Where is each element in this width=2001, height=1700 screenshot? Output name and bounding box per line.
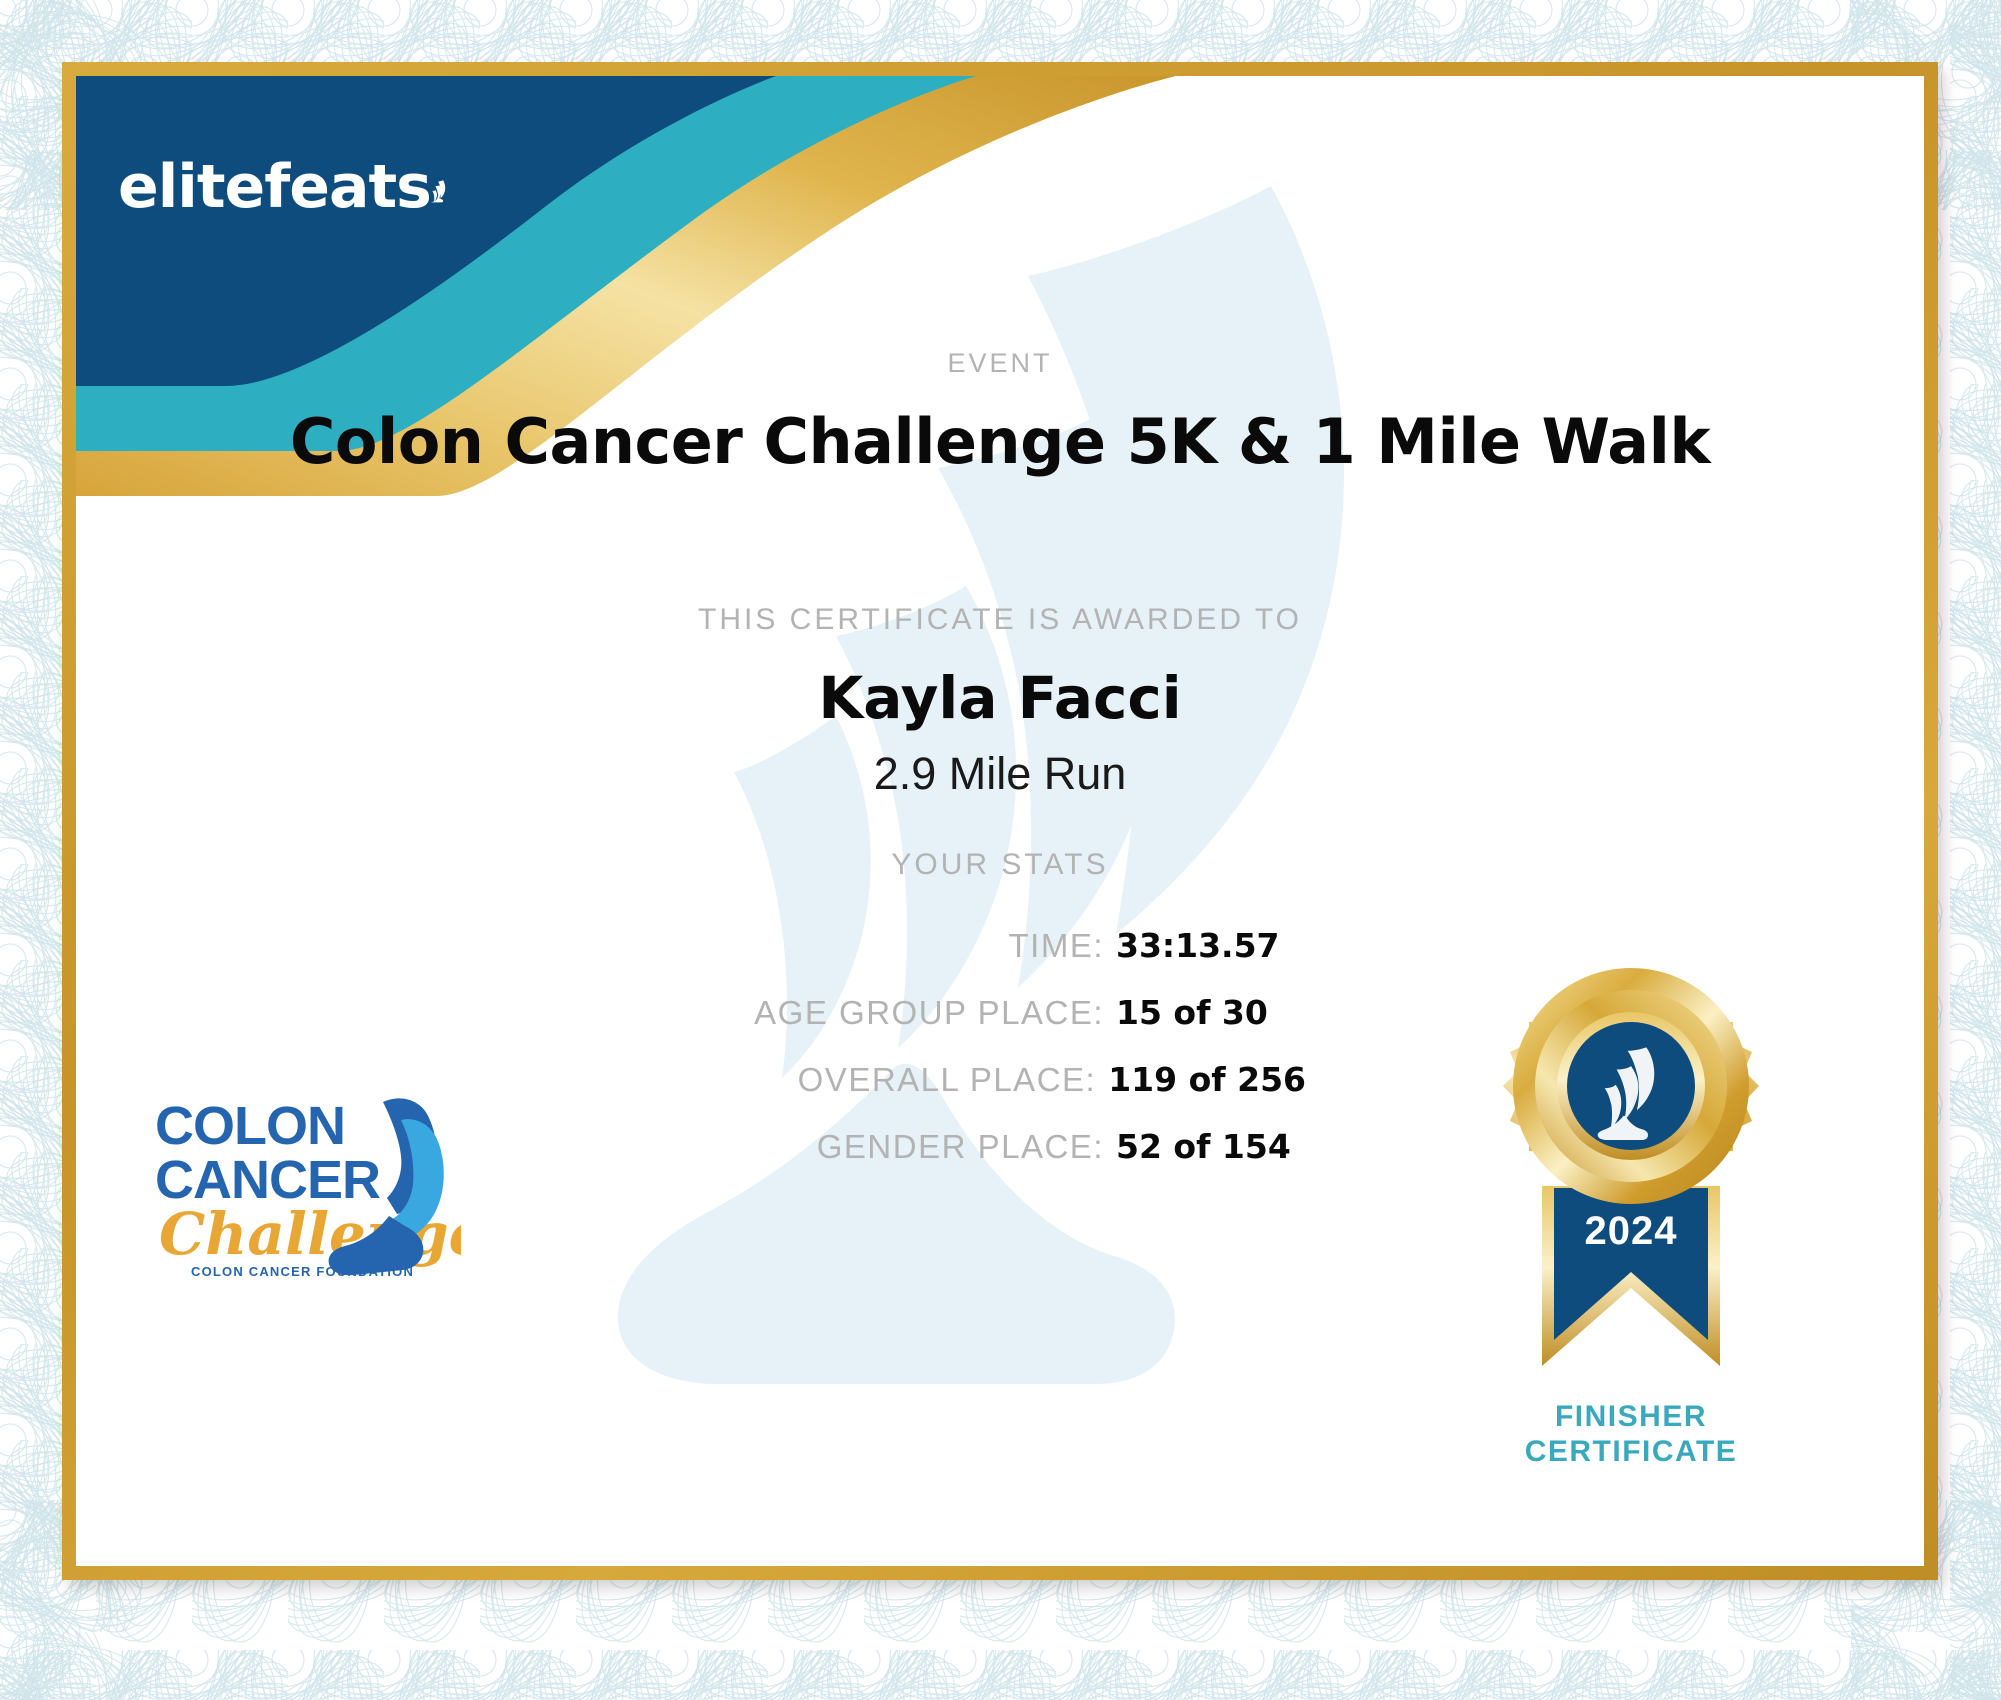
event-title: Colon Cancer Challenge 5K & 1 Mile Walk: [76, 405, 1924, 478]
stat-value: 15 of 30: [1116, 993, 1306, 1032]
your-stats-kicker-label: YOUR STATS: [76, 848, 1924, 882]
event-kicker-label: EVENT: [76, 348, 1924, 379]
stat-row-time: TIME: 33:13.57: [76, 926, 1306, 965]
stat-label: AGE GROUP PLACE:: [754, 994, 1104, 1032]
stat-value: 33:13.57: [1116, 926, 1306, 965]
stat-row-age-group-place: AGE GROUP PLACE: 15 of 30: [76, 993, 1306, 1032]
stat-value: 52 of 154: [1116, 1127, 1306, 1166]
medal-caption-line1: FINISHER: [1466, 1400, 1796, 1435]
stat-value: 119 of 256: [1108, 1060, 1306, 1099]
stat-label: OVERALL PLACE:: [798, 1061, 1097, 1099]
awarded-to-kicker-label: THIS CERTIFICATE IS AWARDED TO: [76, 603, 1924, 637]
medal-caption: FINISHER CERTIFICATE: [1466, 1400, 1796, 1469]
certificate-content: EVENT Colon Cancer Challenge 5K & 1 Mile…: [76, 76, 1924, 1566]
certificate-page: elitefeats EVENT Colon Cancer Chall: [0, 0, 2001, 1700]
certificate-gold-frame: elitefeats EVENT Colon Cancer Chall: [62, 62, 1938, 1580]
medal-caption-line2: CERTIFICATE: [1466, 1435, 1796, 1470]
medal-art: 2024: [1466, 936, 1796, 1406]
medal-year: 2024: [1585, 1209, 1678, 1253]
certificate-inner-surface: elitefeats EVENT Colon Cancer Chall: [76, 76, 1924, 1566]
stat-label: GENDER PLACE:: [817, 1128, 1104, 1166]
ccc-line1: COLON: [155, 1096, 345, 1156]
awardee-division: 2.9 Mile Run: [76, 748, 1924, 800]
colon-cancer-challenge-logo: COLON CANCER Challenge COLON CANCER FOUN…: [151, 1086, 461, 1296]
awardee-name: Kayla Facci: [76, 664, 1924, 732]
stat-label: TIME:: [1009, 927, 1105, 965]
finisher-medal: 2024 FINISHER CERTIFICATE: [1466, 936, 1796, 1496]
